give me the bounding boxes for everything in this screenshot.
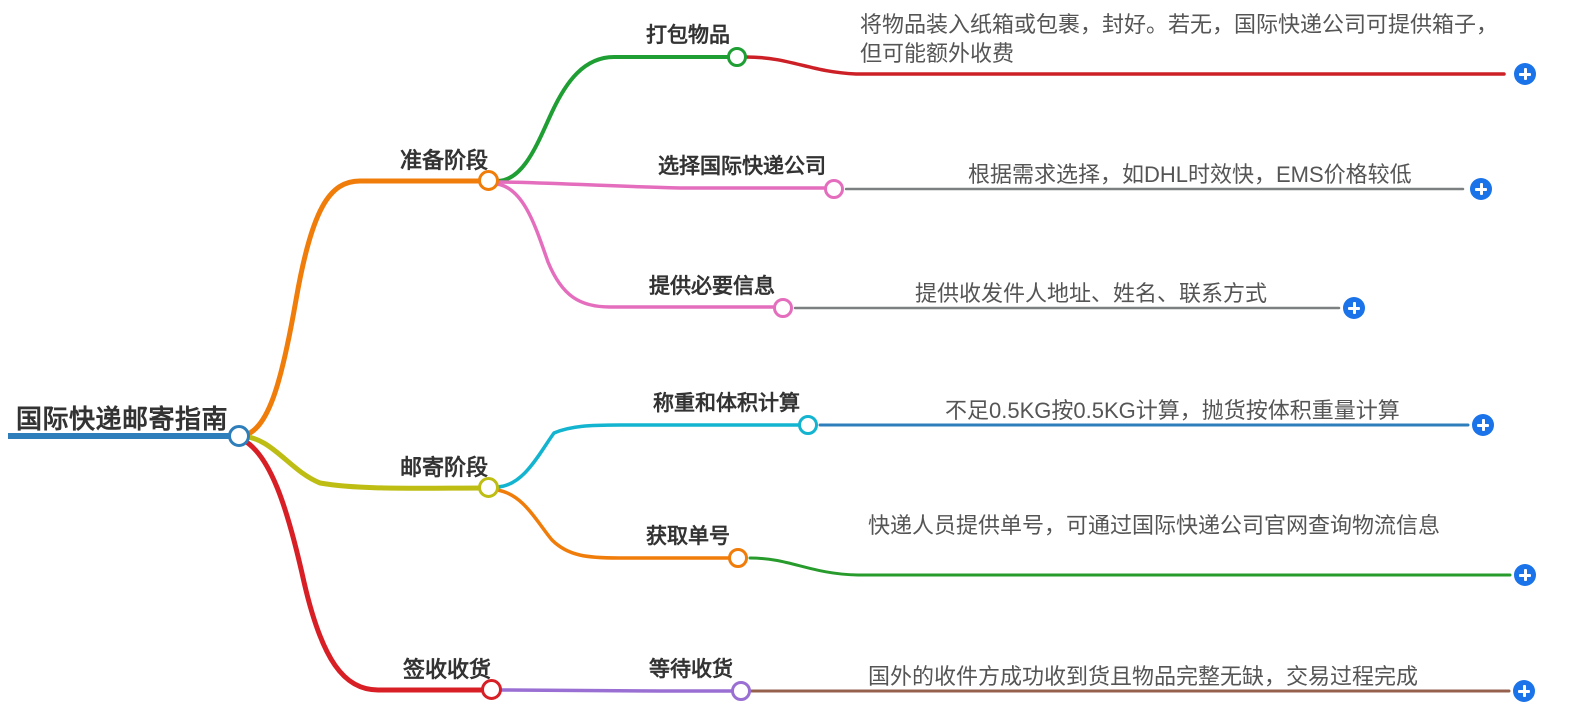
detail-node-0-2[interactable]: 提供收发件人地址、姓名、联系方式 [915,279,1345,310]
detail-node-0-0-label: 将物品装入纸箱或包裹，封好。若无，国际快递公司可提供箱子，但可能额外收费 [860,10,1500,70]
branch-node-1[interactable]: 邮寄阶段 [330,455,488,484]
branch-node-1-label: 邮寄阶段 [330,455,488,484]
topic-node-1-0[interactable]: 称重和体积计算 [620,392,800,420]
detail-node-2-0-label: 国外的收件方成功收到货且物品完整无缺，交易过程完成 [868,662,1508,693]
edge-branch-2-child-0 [500,690,733,691]
branch-node-2-dot[interactable] [481,679,502,700]
detail-node-2-0[interactable]: 国外的收件方成功收到货且物品完整无缺，交易过程完成 [868,662,1508,693]
expand-button-0-0[interactable] [1514,63,1536,85]
topic-node-1-1[interactable]: 获取单号 [620,525,730,553]
detail-node-1-1-label: 快递人员提供单号，可通过国际快递公司官网查询物流信息 [868,511,1498,542]
expand-button-1-1[interactable] [1514,564,1536,586]
edge-detail-1-1 [750,558,1510,575]
topic-node-0-2[interactable]: 提供必要信息 [620,275,775,303]
topic-node-0-1-label: 选择国际快递公司 [620,155,826,183]
expand-button-0-2[interactable] [1343,297,1365,319]
edge-root-to-branch-0 [239,181,488,436]
topic-node-1-0-label: 称重和体积计算 [620,392,800,420]
topic-node-0-0[interactable]: 打包物品 [580,24,730,52]
mindmap-canvas[interactable]: 国际快递邮寄指南 准备阶段 邮寄阶段 签收收货 打包物品 选择国际快递公司 提供… [0,0,1575,712]
topic-node-2-0-label: 等待收货 [620,658,733,686]
detail-node-1-1[interactable]: 快递人员提供单号，可通过国际快递公司官网查询物流信息 [868,511,1498,542]
root-node-label: 国际快递邮寄指南 [16,404,231,438]
branch-node-0-dot[interactable] [478,170,499,191]
expand-button-2-0[interactable] [1513,680,1535,702]
topic-node-0-2-label: 提供必要信息 [620,275,775,303]
topic-node-2-0[interactable]: 等待收货 [620,658,733,686]
expand-button-0-1[interactable] [1470,178,1492,200]
topic-node-1-1-dot[interactable] [728,548,748,568]
connector-edges [0,0,1575,712]
detail-node-0-0[interactable]: 将物品装入纸箱或包裹，封好。若无，国际快递公司可提供箱子，但可能额外收费 [860,10,1500,70]
topic-node-0-2-dot[interactable] [773,298,793,318]
detail-node-0-2-label: 提供收发件人地址、姓名、联系方式 [915,279,1345,310]
detail-node-0-1[interactable]: 根据需求选择，如DHL时效快，EMS价格较低 [968,160,1468,191]
topic-node-0-1-dot[interactable] [824,179,844,199]
branch-node-2[interactable]: 签收收货 [333,657,491,686]
root-node[interactable]: 国际快递邮寄指南 [16,404,231,438]
topic-node-1-0-dot[interactable] [798,415,818,435]
topic-node-1-1-label: 获取单号 [620,525,730,553]
topic-node-0-0-label: 打包物品 [580,24,730,52]
detail-node-1-0-label: 不足0.5KG按0.5KG计算，抛货按体积重量计算 [945,396,1475,427]
expand-button-1-0[interactable] [1472,414,1494,436]
detail-node-1-0[interactable]: 不足0.5KG按0.5KG计算，抛货按体积重量计算 [945,396,1475,427]
detail-node-0-1-label: 根据需求选择，如DHL时效快，EMS价格较低 [968,160,1468,191]
branch-node-1-dot[interactable] [478,477,499,498]
topic-node-0-0-dot[interactable] [727,47,747,67]
branch-node-2-label: 签收收货 [333,657,491,686]
edge-branch-0-child-1 [497,182,826,188]
topic-node-2-0-dot[interactable] [731,681,751,701]
root-node-dot[interactable] [228,425,250,447]
topic-node-0-1[interactable]: 选择国际快递公司 [620,155,826,183]
edge-branch-1-child-0 [497,425,800,487]
branch-node-0-label: 准备阶段 [330,148,488,177]
branch-node-0[interactable]: 准备阶段 [330,148,488,177]
